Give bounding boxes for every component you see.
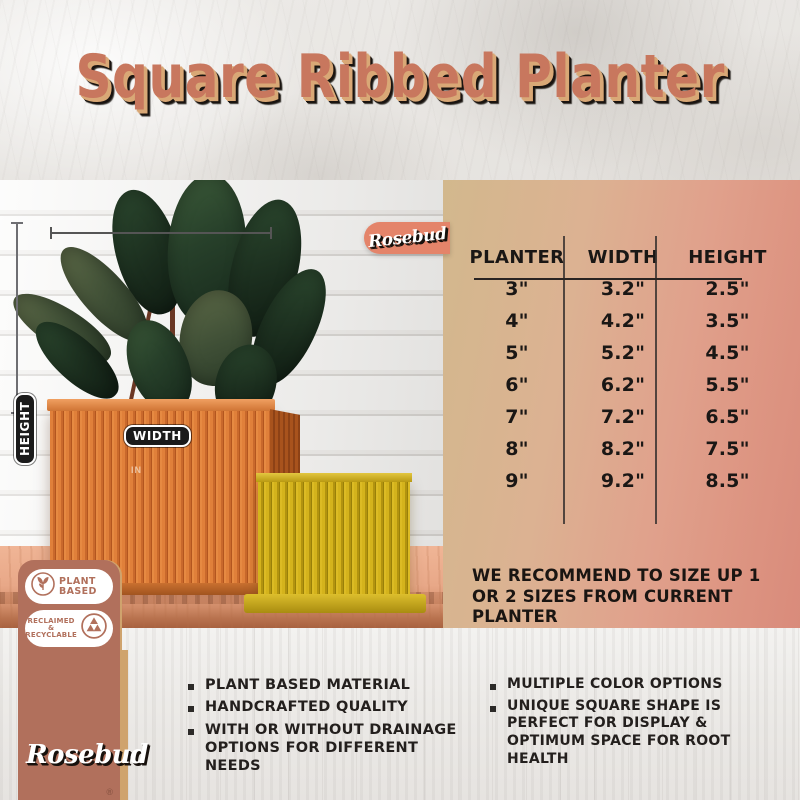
feature-text: UNIQUE SQUARE SHAPE IS PERFECT FOR DISPL… [507, 698, 766, 769]
plant-based-badge: PLANTBASED [25, 569, 113, 604]
height-label: HEIGHT [14, 393, 36, 465]
gold-planter-saucer [244, 594, 426, 613]
rosebud-wordmark: Rosebud [367, 224, 447, 252]
column-header-height: HEIGHT [669, 242, 786, 273]
table-body: 3" 3.2" 2.5" 4" 4.2" 3.5" 5" 5.2" 4.5" 6… [457, 273, 786, 497]
bullet-icon [490, 706, 496, 712]
table-row: 8" 8.2" 7.5" [457, 433, 786, 465]
registered-mark: ® [106, 787, 113, 797]
cell-planter: 7" [457, 401, 577, 433]
title-area: Square Ribbed Planter [0, 47, 800, 107]
cell-planter: 8" [457, 433, 577, 465]
bullet-icon [188, 684, 194, 690]
width-measure-line [50, 232, 272, 234]
width-label: WIDTH [124, 425, 191, 447]
table-row: 4" 4.2" 3.5" [457, 305, 786, 337]
spec-table: PLANTER WIDTH HEIGHT 3" 3.2" 2.5" 4" 4.2… [443, 242, 800, 497]
cell-planter: 6" [457, 369, 577, 401]
planter-face-mark: IN [131, 465, 142, 475]
list-item: UNIQUE SQUARE SHAPE IS PERFECT FOR DISPL… [490, 698, 766, 769]
cell-height: 3.5" [669, 305, 786, 337]
feature-text: HANDCRAFTED QUALITY [205, 698, 408, 716]
gold-ribbed-planter [258, 480, 410, 596]
height-measure-line [16, 222, 18, 414]
cell-height: 8.5" [669, 465, 786, 497]
reclaimed-recyclable-text: RECLAIMED&RECYCLABLE [25, 618, 77, 639]
bullet-icon [490, 684, 496, 690]
feature-column-right: MULTIPLE COLOR OPTIONS UNIQUE SQUARE SHA… [490, 676, 766, 779]
rubber-plant [20, 180, 350, 428]
feature-column-left: PLANT BASED MATERIAL HANDCRAFTED QUALITY… [188, 676, 464, 779]
table-row: 7" 7.2" 6.5" [457, 401, 786, 433]
cell-height: 4.5" [669, 337, 786, 369]
recycle-icon [81, 613, 107, 644]
cell-planter: 4" [457, 305, 577, 337]
planter-rim [47, 399, 275, 411]
spec-panel: PLANTER WIDTH HEIGHT 3" 3.2" 2.5" 4" 4.2… [443, 180, 800, 628]
cell-planter: 9" [457, 465, 577, 497]
leaf-icon [31, 572, 55, 601]
list-item: MULTIPLE COLOR OPTIONS [490, 676, 766, 694]
table-header-row: PLANTER WIDTH HEIGHT [457, 242, 786, 273]
reclaimed-recyclable-badge: RECLAIMED&RECYCLABLE [25, 610, 113, 647]
cell-planter: 5" [457, 337, 577, 369]
plant-based-text: PLANTBASED [59, 577, 97, 596]
sizing-recommendation: WE RECOMMEND TO SIZE UP 1 OR 2 SIZES FRO… [472, 566, 772, 628]
cell-height: 7.5" [669, 433, 786, 465]
cell-height: 5.5" [669, 369, 786, 401]
table-header-rule [474, 278, 742, 280]
brand-panel: Rosebud ® [18, 650, 120, 800]
gold-planter-rim [256, 473, 412, 482]
table-row: 5" 5.2" 4.5" [457, 337, 786, 369]
list-item: WITH OR WITHOUT DRAINAGE OPTIONS FOR DIF… [188, 721, 464, 776]
table-row: 6" 6.2" 5.5" [457, 369, 786, 401]
feature-list: PLANT BASED MATERIAL HANDCRAFTED QUALITY… [188, 676, 788, 779]
list-item: HANDCRAFTED QUALITY [188, 698, 464, 716]
column-header-planter: PLANTER [457, 242, 577, 273]
bullet-icon [188, 729, 194, 735]
gold-accent-stripe [120, 650, 128, 800]
bullet-icon [188, 706, 194, 712]
rosebud-logo: Rosebud [26, 740, 148, 770]
infographic-page: Square Ribbed Planter [0, 0, 800, 800]
page-title: Square Ribbed Planter [75, 47, 724, 107]
feature-text: PLANT BASED MATERIAL [205, 676, 410, 694]
list-item: PLANT BASED MATERIAL [188, 676, 464, 694]
feature-text: MULTIPLE COLOR OPTIONS [507, 676, 723, 694]
table-row: 9" 9.2" 8.5" [457, 465, 786, 497]
eco-badge-card: PLANTBASED RECLAIMED&RECYCLABLE [18, 560, 120, 650]
rosebud-badge: Rosebud [364, 222, 450, 254]
feature-text: WITH OR WITHOUT DRAINAGE OPTIONS FOR DIF… [205, 721, 464, 776]
cell-height: 6.5" [669, 401, 786, 433]
